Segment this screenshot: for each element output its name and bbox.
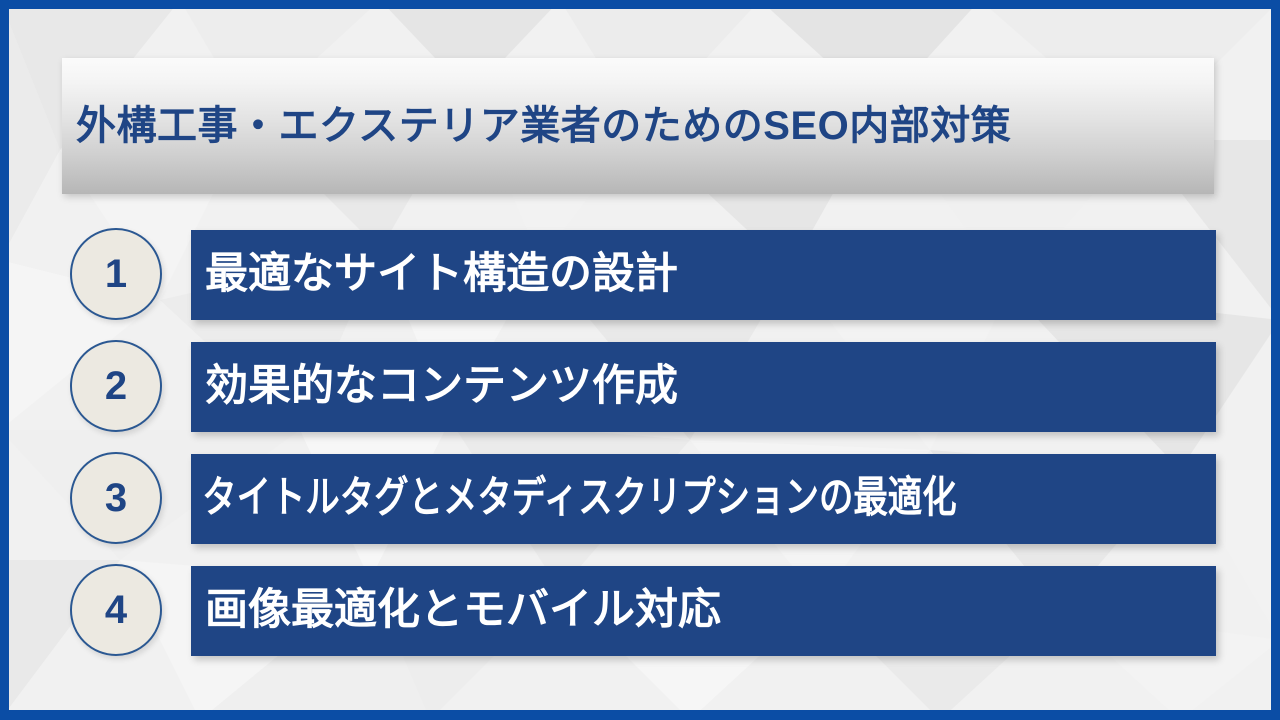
frame-border-bottom: [0, 710, 1280, 720]
list-item-label: タイトルタグとメタディスクリプションの最適化: [191, 476, 957, 521]
list-item-bar: 最適なサイト構造の設計: [191, 230, 1216, 320]
page-title: 外構工事・エクステリア業者のためのSEO内部対策: [62, 104, 1011, 148]
list-item: 2 効果的なコンテンツ作成: [0, 340, 1280, 432]
list-item-number: 2: [105, 366, 127, 406]
list-item-label: 効果的なコンテンツ作成: [191, 364, 678, 409]
list-item: 4 画像最適化とモバイル対応: [0, 564, 1280, 656]
list-item-bar: タイトルタグとメタディスクリプションの最適化: [191, 454, 1216, 544]
list-item-bar: 効果的なコンテンツ作成: [191, 342, 1216, 432]
slide: 外構工事・エクステリア業者のためのSEO内部対策 1 最適なサイト構造の設計 2…: [0, 0, 1280, 720]
list-item-number-badge: 3: [70, 452, 162, 544]
list-item-label: 最適なサイト構造の設計: [191, 252, 678, 297]
list-item-label: 画像最適化とモバイル対応: [191, 588, 721, 633]
list-item-number: 4: [105, 590, 127, 630]
frame-border-right: [1271, 0, 1280, 720]
list-item-number: 3: [105, 478, 127, 518]
list-item-number-badge: 1: [70, 228, 162, 320]
list-item-number: 1: [105, 254, 127, 294]
list-item-number-badge: 4: [70, 564, 162, 656]
title-band: 外構工事・エクステリア業者のためのSEO内部対策: [62, 58, 1214, 194]
list-item-number-badge: 2: [70, 340, 162, 432]
list-item: 1 最適なサイト構造の設計: [0, 228, 1280, 320]
list-item: 3 タイトルタグとメタディスクリプションの最適化: [0, 452, 1280, 544]
frame-border-top: [0, 0, 1280, 9]
list-item-bar: 画像最適化とモバイル対応: [191, 566, 1216, 656]
frame-border-left: [0, 0, 9, 720]
numbered-list: 1 最適なサイト構造の設計 2 効果的なコンテンツ作成 3 タイトルタグとメタデ…: [0, 228, 1280, 676]
